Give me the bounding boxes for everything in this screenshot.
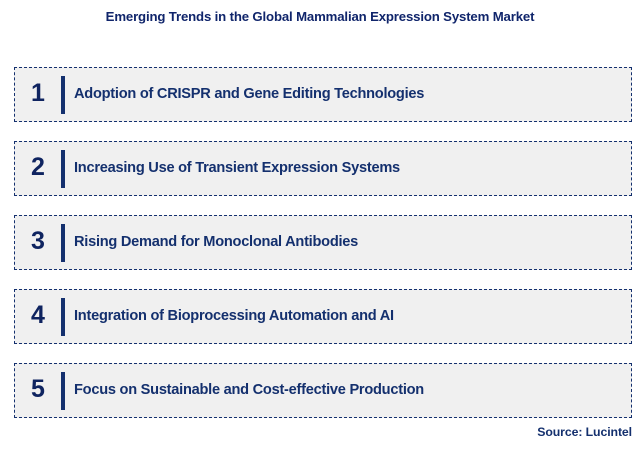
trend-rank-number: 1 [15,81,61,108]
list-item[interactable]: 1 Adoption of CRISPR and Gene Editing Te… [14,67,632,122]
vertical-divider [61,76,65,114]
trend-label: Increasing Use of Transient Expression S… [74,160,631,177]
list-item[interactable]: 3 Rising Demand for Monoclonal Antibodie… [14,215,632,270]
trend-label: Rising Demand for Monoclonal Antibodies [74,234,631,251]
source-attribution: Source: Lucintel [537,425,632,439]
page-title: Emerging Trends in the Global Mammalian … [0,9,640,24]
trend-label: Focus on Sustainable and Cost-effective … [74,382,631,399]
vertical-divider [61,224,65,262]
trend-rank-number: 4 [15,303,61,330]
vertical-divider [61,150,65,188]
trend-rank-number: 2 [15,155,61,182]
trend-list: 1 Adoption of CRISPR and Gene Editing Te… [14,67,632,418]
trend-rank-number: 3 [15,229,61,256]
trend-rank-number: 5 [15,377,61,404]
trend-label: Integration of Bioprocessing Automation … [74,308,631,325]
vertical-divider [61,372,65,410]
list-item[interactable]: 5 Focus on Sustainable and Cost-effectiv… [14,363,632,418]
trends-infographic: Emerging Trends in the Global Mammalian … [0,0,640,450]
vertical-divider [61,298,65,336]
list-item[interactable]: 2 Increasing Use of Transient Expression… [14,141,632,196]
trend-label: Adoption of CRISPR and Gene Editing Tech… [74,86,631,103]
list-item[interactable]: 4 Integration of Bioprocessing Automatio… [14,289,632,344]
